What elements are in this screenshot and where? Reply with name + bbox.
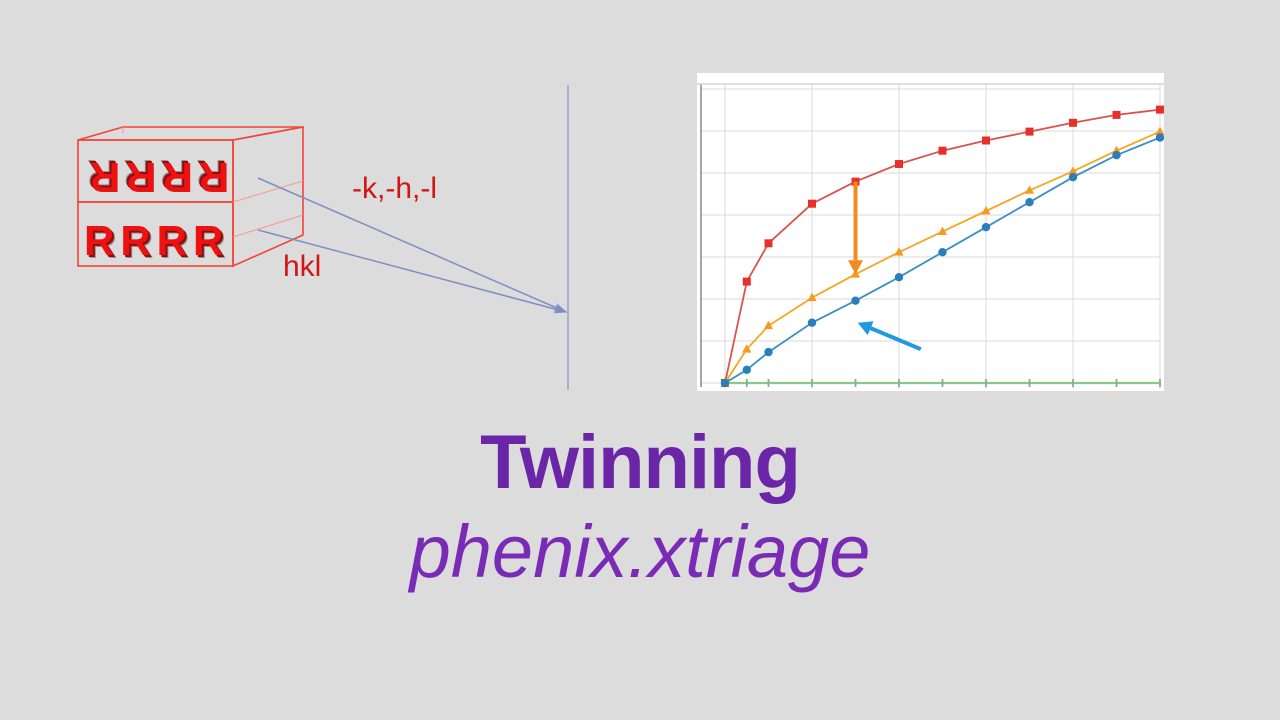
data-point-square xyxy=(1113,111,1121,119)
data-point-square xyxy=(1026,128,1034,136)
data-point-circle xyxy=(1156,133,1164,141)
data-point-square xyxy=(765,239,773,247)
cumulative-intensity-chart xyxy=(697,73,1164,391)
data-point-circle xyxy=(1069,173,1077,181)
data-point-circle xyxy=(721,379,729,387)
title-block: Twinning phenix.xtriage xyxy=(0,425,1280,589)
crystal-top-domain-letters: RRRR xyxy=(84,153,229,201)
data-point-circle xyxy=(1025,198,1033,206)
data-point-circle xyxy=(851,297,859,305)
data-point-square xyxy=(895,160,903,168)
data-point-circle xyxy=(743,366,751,374)
data-point-square xyxy=(1069,119,1077,127)
data-point-circle xyxy=(982,223,990,231)
data-point-circle xyxy=(1112,151,1120,159)
page-subtitle: phenix.xtriage xyxy=(0,515,1280,589)
data-point-square xyxy=(743,278,751,286)
data-point-circle xyxy=(938,248,946,256)
data-point-square xyxy=(1156,106,1164,114)
label-twin-operator: -k,-h,-l xyxy=(352,172,437,206)
chart-svg xyxy=(697,73,1164,391)
data-point-circle xyxy=(808,319,816,327)
chart-background xyxy=(697,73,1164,391)
data-point-circle xyxy=(764,348,772,356)
data-point-circle xyxy=(895,273,903,281)
data-point-square xyxy=(939,147,947,155)
page-title: Twinning xyxy=(0,425,1280,501)
data-point-square xyxy=(982,137,990,145)
label-hkl: hkl xyxy=(283,250,321,284)
crystal-bottom-domain-letters: RRRR xyxy=(84,217,229,265)
data-point-square xyxy=(808,200,816,208)
slide-canvas: RRRR RRRR hkl -k,-h,-l xyxy=(0,0,1280,720)
